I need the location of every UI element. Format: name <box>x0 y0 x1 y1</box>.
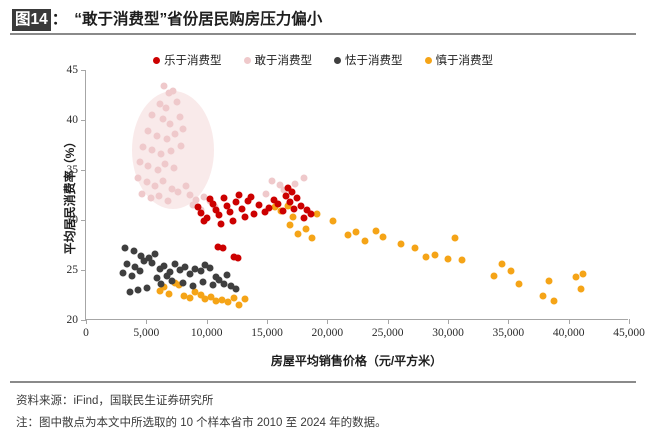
scatter-point <box>182 183 189 190</box>
scatter-point <box>144 128 151 135</box>
x-axis-tick-label: 20,000 <box>312 327 344 339</box>
scatter-point <box>268 178 275 185</box>
scatter-point <box>232 199 239 206</box>
scatter-point <box>137 268 144 275</box>
scatter-point <box>143 285 150 292</box>
y-axis-tick <box>81 270 86 271</box>
scatter-point <box>197 210 204 217</box>
scatter-point <box>229 218 236 225</box>
scatter-point <box>431 252 438 259</box>
scatter-point <box>130 248 137 255</box>
scatter-point <box>227 209 234 216</box>
scatter-point <box>218 221 225 228</box>
scatter-point <box>302 226 309 233</box>
scatter-point <box>290 206 297 213</box>
scatter-point <box>138 191 145 198</box>
y-axis-tick-label: 25 <box>67 264 79 276</box>
scatter-point <box>204 215 211 222</box>
scatter-point <box>540 293 547 300</box>
scatter-point <box>166 291 173 298</box>
scatter-point <box>177 143 184 150</box>
scatter-point <box>197 268 204 275</box>
x-axis-tick <box>146 319 147 324</box>
scatter-point <box>135 287 142 294</box>
scatter-point <box>372 228 379 235</box>
source-note: 资料来源：iFind，国联民生证券研究所 <box>16 392 213 408</box>
scatter-point <box>177 114 184 121</box>
scatter-point <box>423 254 430 261</box>
x-axis-tick <box>267 319 268 324</box>
scatter-point <box>231 295 238 302</box>
x-axis-tick-label: 10,000 <box>191 327 223 339</box>
y-axis-tick-label: 20 <box>67 314 79 326</box>
scatter-point <box>344 232 351 239</box>
scatter-point <box>266 205 273 212</box>
scatter-point <box>286 222 293 229</box>
scatter-point <box>160 83 167 90</box>
scatter-point <box>572 274 579 281</box>
scatter-point <box>154 133 161 140</box>
y-axis-tick <box>81 220 86 221</box>
scatter-point <box>180 280 187 287</box>
scatter-point <box>459 257 466 264</box>
scatter-point <box>412 245 419 252</box>
scatter-point <box>353 229 360 236</box>
scatter-point <box>158 281 165 288</box>
scatter-point <box>499 261 506 268</box>
scatter-point <box>163 273 170 280</box>
scatter-point <box>507 268 514 275</box>
scatter-point <box>181 264 188 271</box>
scatter-point <box>314 211 321 218</box>
scatter-point <box>163 136 170 143</box>
scatter-point <box>174 99 181 106</box>
scatter-point <box>300 175 307 182</box>
x-axis-tick-label: 25,000 <box>372 327 404 339</box>
scatter-point <box>551 298 558 305</box>
y-axis-tick <box>81 70 86 71</box>
scatter-point <box>275 201 282 208</box>
scatter-point <box>379 234 386 241</box>
scatter-point <box>186 295 193 302</box>
scatter-point <box>546 278 553 285</box>
scatter-point <box>247 194 254 201</box>
scatter-point <box>121 245 128 252</box>
scatter-point <box>127 289 134 296</box>
scatter-point <box>120 270 127 277</box>
y-axis-tick <box>81 120 86 121</box>
scatter-point <box>250 211 257 218</box>
footer-divider <box>10 381 636 383</box>
scatter-point <box>145 163 152 170</box>
scatter-point <box>190 283 197 290</box>
scatter-plot-area: 20253035404505,00010,00015,00020,00025,0… <box>85 70 628 320</box>
scatter-point <box>154 167 161 174</box>
scatter-point <box>221 195 228 202</box>
x-axis-tick <box>207 319 208 324</box>
scatter-point <box>241 214 248 221</box>
x-axis-tick-label: 40,000 <box>553 327 585 339</box>
x-axis-tick-label: 0 <box>83 327 89 339</box>
scatter-point <box>168 148 175 155</box>
y-axis-tick-label: 45 <box>67 64 79 76</box>
scatter-point <box>295 231 302 238</box>
scatter-point <box>137 159 144 166</box>
scatter-point <box>135 175 142 182</box>
x-axis-tick-label: 30,000 <box>432 327 464 339</box>
scatter-point <box>152 251 159 258</box>
y-axis-tick-label: 35 <box>67 164 79 176</box>
scatter-point <box>292 181 299 188</box>
x-axis-tick-label: 15,000 <box>251 327 283 339</box>
scatter-point <box>238 206 245 213</box>
x-axis-tick-label: 5,000 <box>133 327 159 339</box>
x-axis-tick <box>388 319 389 324</box>
scatter-point <box>330 218 337 225</box>
scatter-point <box>153 275 160 282</box>
scatter-point <box>580 271 587 278</box>
scatter-point <box>148 112 155 119</box>
scatter-point <box>160 178 167 185</box>
scatter-point <box>149 147 156 154</box>
y-axis-tick-label: 30 <box>67 214 79 226</box>
scatter-point <box>235 255 242 262</box>
scatter-point <box>224 272 231 279</box>
x-axis-tick <box>629 319 630 324</box>
scatter-point <box>279 208 286 215</box>
y-axis-tick-label: 40 <box>67 114 79 126</box>
x-axis-tick-label: 45,000 <box>613 327 645 339</box>
scatter-point <box>242 296 249 303</box>
scatter-point <box>147 195 154 202</box>
x-axis-tick <box>448 319 449 324</box>
scatter-point <box>288 189 295 196</box>
scatter-point <box>490 273 497 280</box>
scatter-point <box>445 256 452 263</box>
x-axis-tick <box>569 319 570 324</box>
scatter-point <box>124 261 131 268</box>
y-axis-title: 平均居民消费率（%） <box>61 136 78 255</box>
scatter-point <box>167 121 174 128</box>
scatter-point <box>294 195 301 202</box>
scatter-point <box>236 302 243 309</box>
scatter-point <box>308 235 315 242</box>
scatter-point <box>159 116 166 123</box>
scatter-point <box>149 260 156 267</box>
scatter-point <box>139 144 146 151</box>
scatter-point <box>151 183 158 190</box>
scatter-point <box>172 131 179 138</box>
figure-note: 注：图中散点为本文中所选取的 10 个样本省市 2010 至 2024 年的数据… <box>16 414 387 430</box>
x-axis-tick <box>327 319 328 324</box>
scatter-point <box>308 211 315 218</box>
x-axis-title: 房屋平均销售价格（元/平方米） <box>85 352 628 369</box>
x-axis-tick <box>86 319 87 324</box>
scatter-point <box>256 202 263 209</box>
scatter-point <box>397 241 404 248</box>
scatter-point <box>220 281 227 288</box>
scatter-point <box>174 189 181 196</box>
scatter-point <box>286 199 293 206</box>
scatter-point <box>452 235 459 242</box>
scatter-point <box>232 286 239 293</box>
scatter-point <box>301 215 308 222</box>
scatter-point <box>516 281 523 288</box>
scatter-point <box>143 179 150 186</box>
scatter-point <box>171 165 178 172</box>
chart-container: 平均居民消费率（%） 房屋平均销售价格（元/平方米） 2025303540450… <box>0 0 646 439</box>
scatter-point <box>577 286 584 293</box>
scatter-point <box>163 105 170 112</box>
scatter-point <box>156 193 163 200</box>
scatter-point <box>289 214 296 221</box>
x-axis-tick-label: 35,000 <box>493 327 525 339</box>
y-axis-tick <box>81 170 86 171</box>
scatter-point <box>209 282 216 289</box>
scatter-point <box>128 273 135 280</box>
scatter-point <box>262 191 269 198</box>
scatter-point <box>361 238 368 245</box>
scatter-point <box>219 245 226 252</box>
scatter-point <box>162 161 169 168</box>
scatter-point <box>165 198 172 205</box>
scatter-point <box>200 279 207 286</box>
x-axis-tick <box>508 319 509 324</box>
scatter-point <box>207 265 214 272</box>
scatter-point <box>158 151 165 158</box>
scatter-point <box>170 88 177 95</box>
scatter-point <box>179 126 186 133</box>
scatter-point <box>215 212 222 219</box>
scatter-point <box>235 192 242 199</box>
